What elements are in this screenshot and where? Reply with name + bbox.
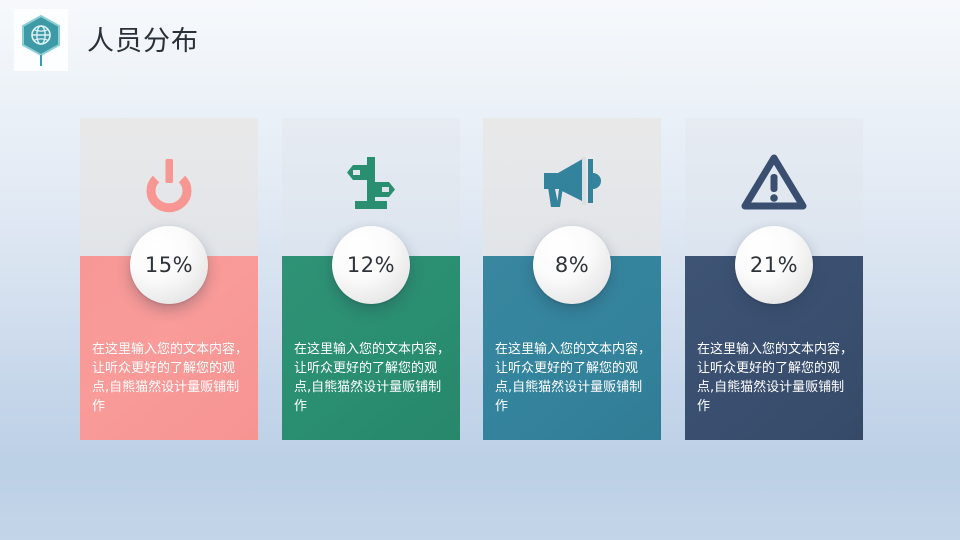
card-description: 在这里输入您的文本内容，让听众更好的了解您的观点,自熊猫然设计量贩铺制作 bbox=[495, 340, 653, 416]
percent-badge: 15% bbox=[130, 226, 208, 304]
card-row: 15% 在这里输入您的文本内容，让听众更好的了解您的观点,自熊猫然设计量贩铺制作 bbox=[80, 118, 864, 440]
card-description: 在这里输入您的文本内容，让听众更好的了解您的观点,自熊猫然设计量贩铺制作 bbox=[294, 340, 452, 416]
hexagon-globe-pin-icon bbox=[14, 9, 68, 71]
card-description: 在这里输入您的文本内容，让听众更好的了解您的观点,自熊猫然设计量贩铺制作 bbox=[92, 340, 250, 416]
stat-card[interactable]: 15% 在这里输入您的文本内容，让听众更好的了解您的观点,自熊猫然设计量贩铺制作 bbox=[80, 118, 258, 440]
card-icon-wrap bbox=[685, 136, 863, 228]
slide-canvas: 人员分布 15% 在这里输入您的文本内容，让听众更好的了解您的观点,自熊猫然设计… bbox=[0, 0, 960, 540]
slide-header: 人员分布 bbox=[0, 0, 960, 90]
signpost-icon bbox=[341, 151, 401, 213]
page-title: 人员分布 bbox=[87, 19, 199, 58]
percent-value: 12% bbox=[347, 253, 395, 277]
stat-card[interactable]: 12% 在这里输入您的文本内容，让听众更好的了解您的观点,自熊猫然设计量贩铺制作 bbox=[282, 118, 460, 440]
card-icon-wrap bbox=[483, 136, 661, 228]
percent-badge: 21% bbox=[735, 226, 813, 304]
card-icon-wrap bbox=[282, 136, 460, 228]
percent-value: 15% bbox=[145, 253, 193, 277]
warning-triangle-icon bbox=[740, 152, 808, 212]
percent-badge: 8% bbox=[533, 226, 611, 304]
card-icon-wrap bbox=[80, 136, 258, 228]
stat-card[interactable]: 8% 在这里输入您的文本内容，让听众更好的了解您的观点,自熊猫然设计量贩铺制作 bbox=[483, 118, 661, 440]
stat-card[interactable]: 21% 在这里输入您的文本内容，让听众更好的了解您的观点,自熊猫然设计量贩铺制作 bbox=[685, 118, 863, 440]
percent-value: 8% bbox=[555, 253, 589, 277]
power-icon bbox=[136, 149, 202, 215]
percent-badge: 12% bbox=[332, 226, 410, 304]
megaphone-icon bbox=[536, 151, 608, 213]
percent-value: 21% bbox=[750, 253, 798, 277]
card-description: 在这里输入您的文本内容，让听众更好的了解您的观点,自熊猫然设计量贩铺制作 bbox=[697, 340, 855, 416]
logo-container bbox=[14, 9, 68, 71]
